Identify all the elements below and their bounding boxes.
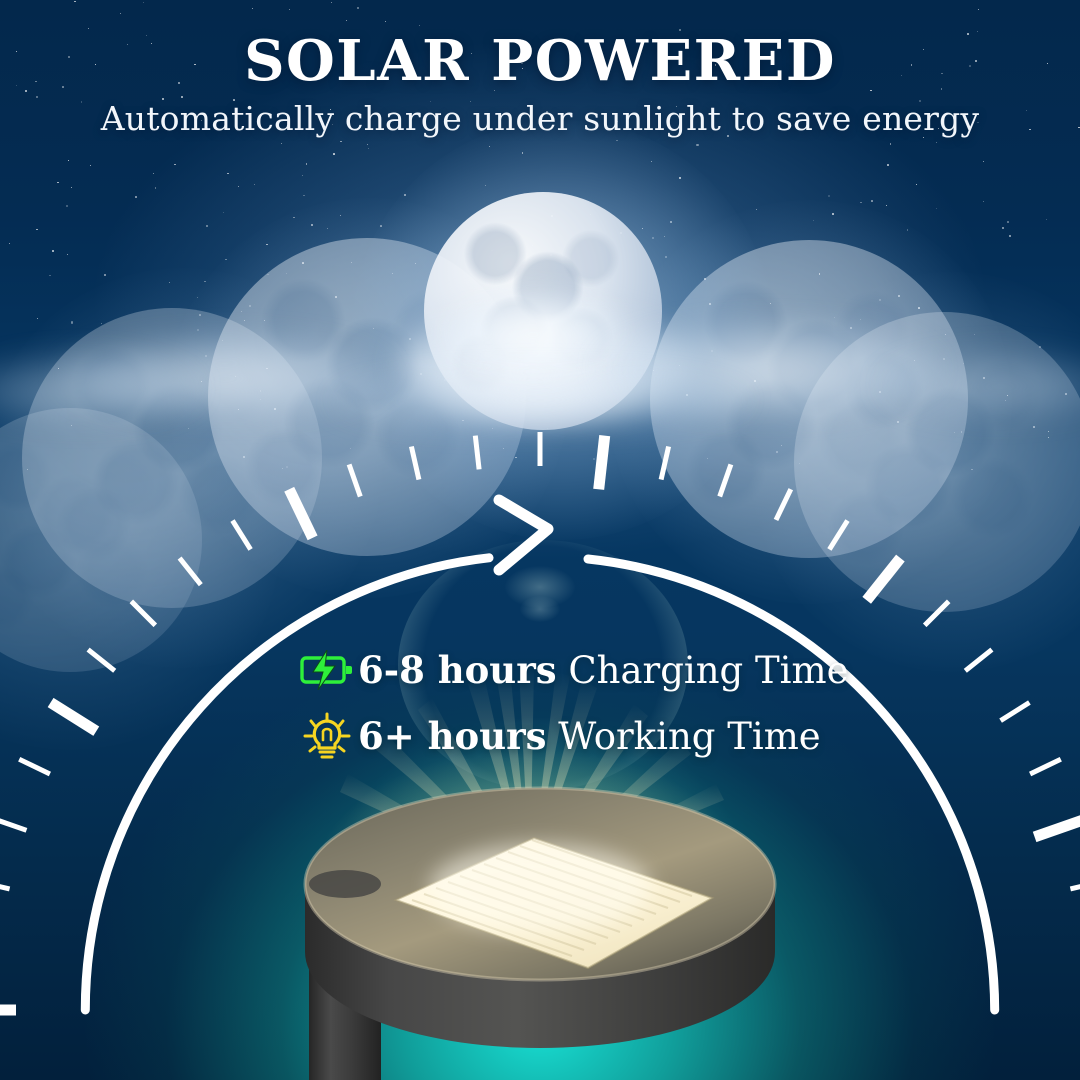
feature-charging-text: 6-8 hours Charging Time <box>358 652 849 689</box>
solar-powered-infographic: SOLAR POWERED Automatically charge under… <box>0 0 1080 1080</box>
page-title: SOLAR POWERED <box>0 28 1080 94</box>
panel-hotspot <box>430 844 650 932</box>
page-subtitle: Automatically charge under sunlight to s… <box>0 99 1080 138</box>
feature-list: 6-8 hours Charging Time <box>296 640 816 772</box>
solar-garden-light <box>0 0 1080 1080</box>
feature-charging-time: 6-8 hours Charging Time <box>296 640 816 700</box>
feature-charging-label: Charging Time <box>568 649 848 692</box>
head-post-notch <box>309 870 381 898</box>
feature-working-label: Working Time <box>558 715 821 758</box>
feature-working-value: 6+ hours <box>358 714 546 758</box>
feature-working-text: 6+ hours Working Time <box>358 718 821 755</box>
lightbulb-icon <box>296 709 358 763</box>
feature-working-time: 6+ hours Working Time <box>296 706 816 766</box>
feature-charging-value: 6-8 hours <box>358 648 557 692</box>
battery-charging-icon <box>296 643 358 697</box>
